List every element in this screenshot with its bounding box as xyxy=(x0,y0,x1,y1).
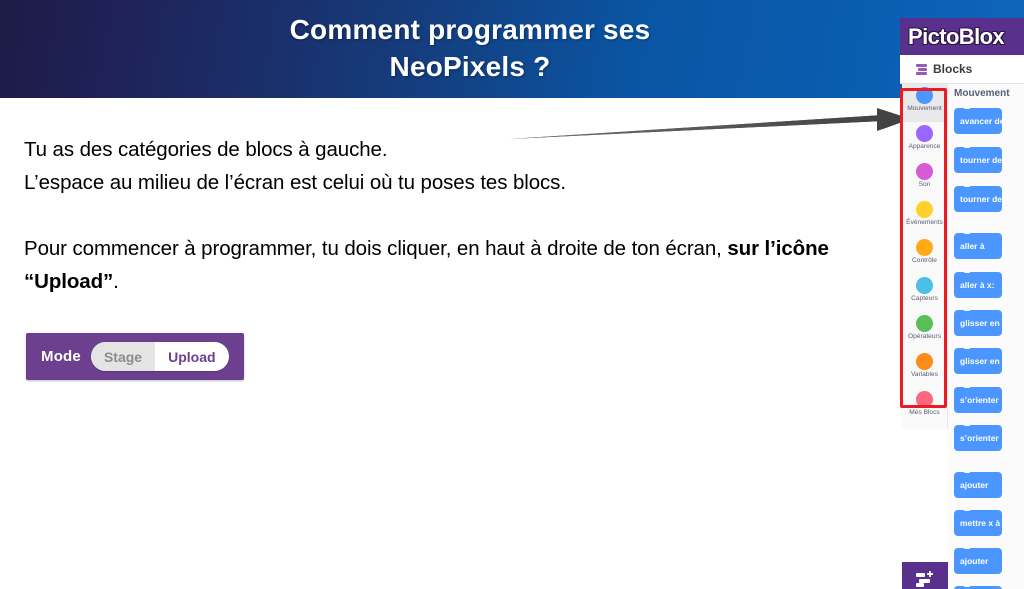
header-banner: Comment programmer ses NeoPixels ? xyxy=(0,0,1024,98)
blocks-palette[interactable]: Mouvement avancer detourner detourner de… xyxy=(948,84,1024,589)
instruction-paragraph-1: Tu as des catégories de blocs à gauche. … xyxy=(24,133,784,199)
mode-toggle-widget[interactable]: Mode Stage Upload xyxy=(26,333,244,380)
palette-block[interactable]: tourner de xyxy=(954,147,1002,173)
palette-block[interactable]: aller à xyxy=(954,233,1002,259)
blocks-icon xyxy=(916,64,928,75)
title-line-2: NeoPixels ? xyxy=(60,49,880,86)
pictoblox-app-panel: PictoBlox Blocks MouvementApparenceSonÉv… xyxy=(900,18,1024,589)
pictoblox-logo: PictoBlox xyxy=(908,24,1004,50)
instruction-line-2: L’espace au milieu de l’écran est celui … xyxy=(24,166,784,199)
instruction-text-lead: Pour commencer à programmer, tu dois cli… xyxy=(24,237,727,260)
palette-block[interactable]: avancer de xyxy=(954,108,1002,134)
palette-block[interactable]: glisser en xyxy=(954,348,1002,374)
add-extension-icon xyxy=(915,571,935,589)
app-titlebar: PictoBlox xyxy=(900,18,1024,55)
instruction-text-tail: . xyxy=(113,270,119,293)
palette-block[interactable]: tourner de xyxy=(954,186,1002,212)
mode-label: Mode xyxy=(26,348,91,365)
instruction-paragraph-2: Pour commencer à programmer, tu dois cli… xyxy=(24,232,834,298)
title-line-1: Comment programmer ses xyxy=(290,14,651,45)
palette-block[interactable]: s’orienter xyxy=(954,425,1002,451)
palette-block[interactable]: ajouter xyxy=(954,472,1002,498)
palette-block[interactable]: mettre x à xyxy=(954,510,1002,536)
tab-blocks[interactable]: Blocks xyxy=(900,55,1024,84)
tab-blocks-label: Blocks xyxy=(933,62,972,76)
palette-heading: Mouvement xyxy=(954,88,1010,99)
palette-block[interactable]: aller à x: xyxy=(954,272,1002,298)
mode-option-upload[interactable]: Upload xyxy=(155,342,228,371)
palette-block[interactable]: glisser en xyxy=(954,310,1002,336)
page-title: Comment programmer ses NeoPixels ? xyxy=(60,12,880,86)
mode-segmented-control[interactable]: Stage Upload xyxy=(91,342,229,371)
mode-option-stage[interactable]: Stage xyxy=(91,342,155,371)
category-label: Mes Blocs xyxy=(909,410,939,417)
instruction-line-1: Tu as des catégories de blocs à gauche. xyxy=(24,133,784,166)
add-extension-button[interactable] xyxy=(902,562,948,589)
slide-canvas: Comment programmer ses NeoPixels ? Tu as… xyxy=(0,0,1024,589)
palette-block[interactable]: ajouter xyxy=(954,548,1002,574)
palette-block[interactable]: s’orienter xyxy=(954,387,1002,413)
highlight-box-categories xyxy=(900,88,947,408)
